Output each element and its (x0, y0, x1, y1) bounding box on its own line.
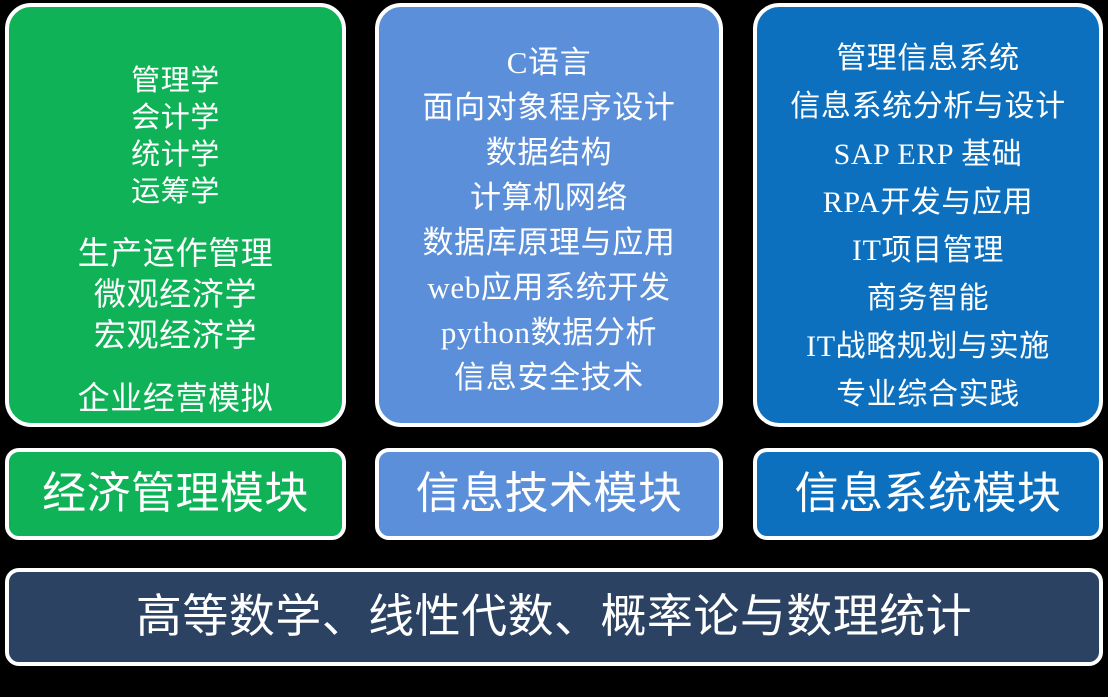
course-line: web应用系统开发 (389, 265, 709, 310)
course-line: IT项目管理 (767, 227, 1089, 275)
course-line: 数据结构 (389, 130, 709, 175)
module-label-economics-management: 经济管理模块 (5, 448, 346, 540)
course-line: 管理学 (19, 63, 332, 100)
course-line: 管理信息系统 (767, 35, 1089, 83)
course-line: 商务智能 (767, 275, 1089, 323)
course-line: 企业经营模拟 (19, 378, 332, 419)
course-line: 统计学 (19, 137, 332, 174)
course-line: 宏观经济学 (19, 315, 332, 356)
course-line: 信息安全技术 (389, 355, 709, 400)
foundation-courses-bar: 高等数学、线性代数、概率论与数理统计 (5, 568, 1103, 666)
course-line: 会计学 (19, 100, 332, 137)
course-group: 生产运作管理 微观经济学 宏观经济学 (19, 233, 332, 356)
course-card-information-system: 管理信息系统 信息系统分析与设计 SAP ERP 基础 RPA开发与应用 IT项… (753, 3, 1103, 427)
course-group: C语言 面向对象程序设计 数据结构 计算机网络 数据库原理与应用 web应用系统… (389, 40, 709, 400)
course-card-information-technology: C语言 面向对象程序设计 数据结构 计算机网络 数据库原理与应用 web应用系统… (375, 3, 723, 427)
course-line: 专业综合实践 (767, 371, 1089, 419)
course-card-economics-management: 管理学 会计学 统计学 运筹学 生产运作管理 微观经济学 宏观经济学 企业经营模… (5, 3, 346, 427)
course-line: IT战略规划与实施 (767, 323, 1089, 371)
course-line: 面向对象程序设计 (389, 85, 709, 130)
course-line: 数据库原理与应用 (389, 220, 709, 265)
course-group: 企业经营模拟 (19, 378, 332, 419)
course-line: 信息系统分析与设计 (767, 83, 1089, 131)
course-line: C语言 (389, 40, 709, 85)
diagram-canvas: 管理学 会计学 统计学 运筹学 生产运作管理 微观经济学 宏观经济学 企业经营模… (0, 0, 1108, 697)
course-line: SAP ERP 基础 (767, 131, 1089, 179)
course-group: 管理学 会计学 统计学 运筹学 (19, 63, 332, 211)
course-line: 运筹学 (19, 174, 332, 211)
course-line: 微观经济学 (19, 274, 332, 315)
course-line: 生产运作管理 (19, 233, 332, 274)
course-line: 计算机网络 (389, 175, 709, 220)
module-label-information-system: 信息系统模块 (753, 448, 1103, 540)
course-line: python数据分析 (389, 310, 709, 355)
course-group: 管理信息系统 信息系统分析与设计 SAP ERP 基础 RPA开发与应用 IT项… (767, 35, 1089, 419)
module-label-information-technology: 信息技术模块 (375, 448, 723, 540)
course-line: RPA开发与应用 (767, 179, 1089, 227)
